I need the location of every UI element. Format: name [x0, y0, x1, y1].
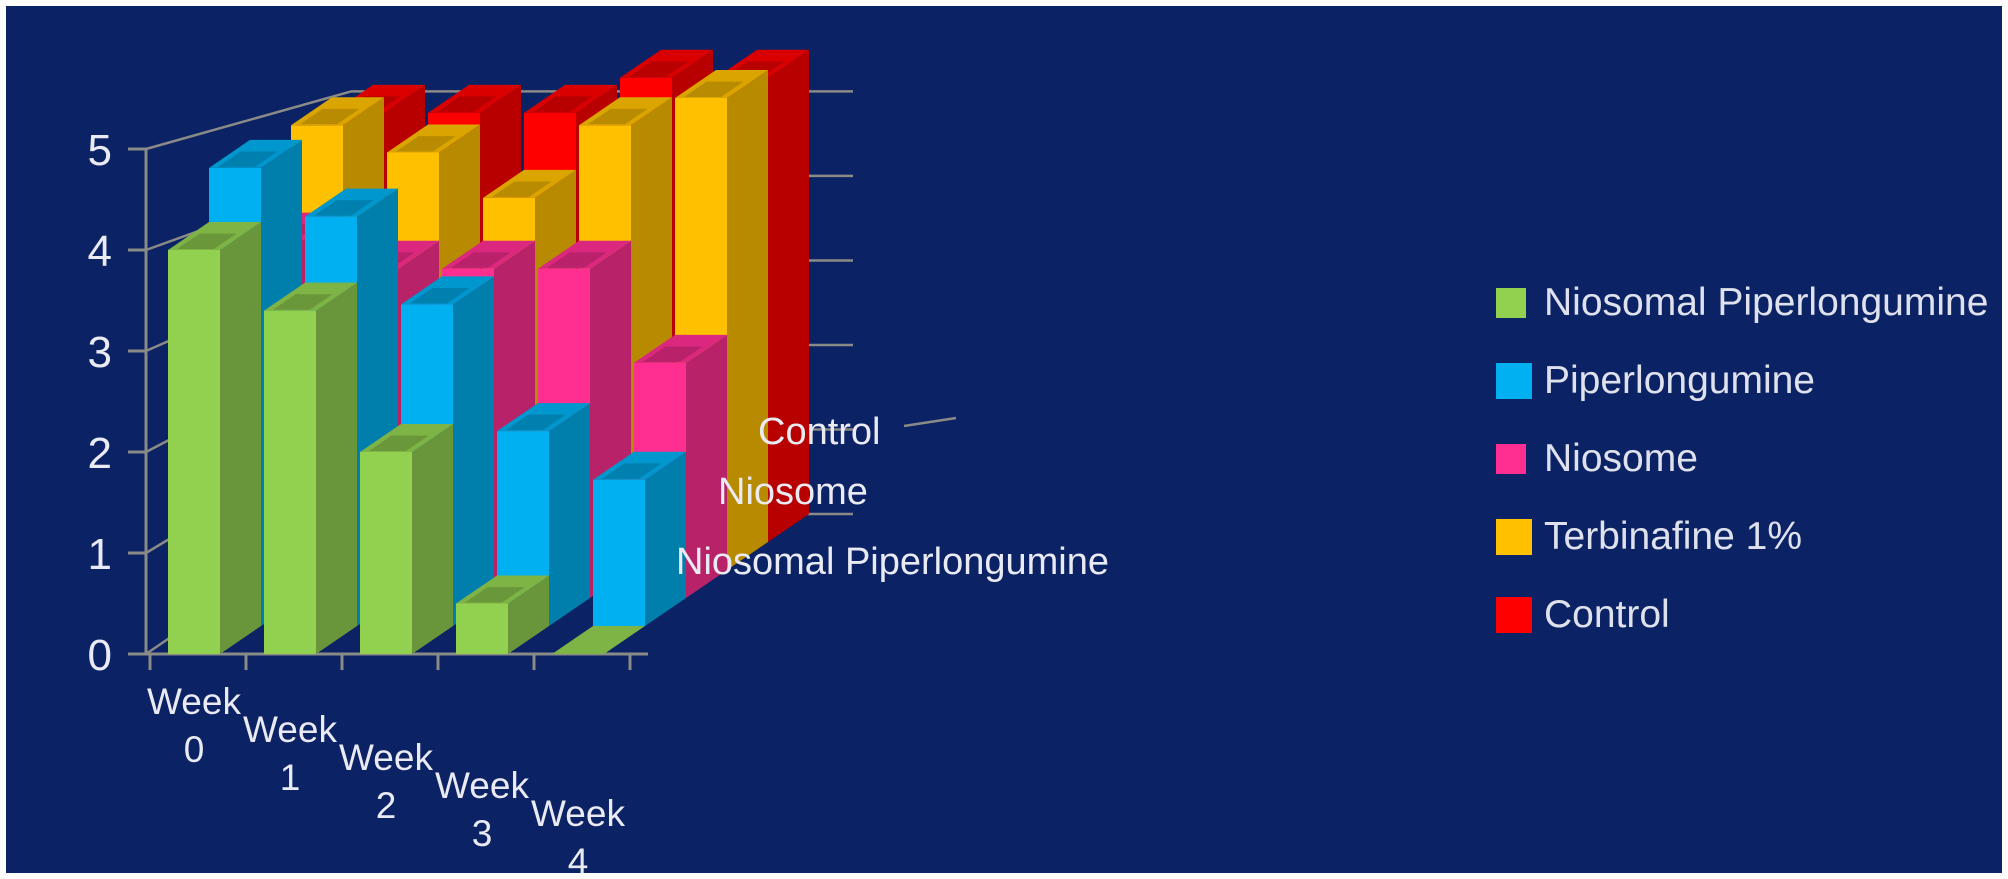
bar [593, 452, 686, 626]
legend-label: Control [1544, 593, 1670, 637]
value-tick-label: 2 [88, 429, 112, 478]
bar-side-face [453, 276, 494, 626]
bar-side-face [768, 50, 809, 542]
bar [168, 222, 261, 654]
bar-side-face [549, 403, 590, 626]
chart-figure: 012345Week0Week1Week2Week3Week4Niosomal … [0, 0, 2008, 879]
category-label: Week0 [147, 681, 241, 770]
depth-axis-label: Niosomal Piperlongumine [676, 541, 1109, 583]
legend-swatch-niosomal-piperlongumine [1496, 288, 1526, 318]
bar-front-face [593, 480, 645, 626]
legend-label: Niosomal Piperlongumine [1544, 281, 1988, 325]
legend-item[interactable]: Niosome [1496, 420, 1976, 498]
bar-side-face [645, 452, 686, 626]
category-label: Week4 [531, 793, 625, 879]
legend-swatch-niosome [1496, 444, 1526, 474]
legend-item[interactable]: Piperlongumine [1496, 342, 1976, 420]
bar-side-face [220, 222, 261, 654]
legend-swatch-control [1496, 597, 1532, 633]
bar [360, 424, 453, 654]
bar [552, 626, 645, 654]
legend-item[interactable]: Niosomal Piperlongumine [1496, 264, 1976, 342]
category-label: Week1 [243, 709, 337, 798]
value-tick-label: 0 [88, 631, 112, 680]
legend-label: Piperlongumine [1544, 359, 1815, 403]
bar-top-face [552, 626, 645, 654]
depth-axis-leader [904, 418, 956, 426]
bar-front-face [360, 452, 412, 654]
value-tick-labels: 012345 [88, 126, 112, 680]
category-labels: Week0Week1Week2Week3Week4 [147, 681, 625, 879]
legend-swatch-piperlongumine [1496, 363, 1532, 399]
category-ticks [150, 654, 630, 670]
legend-item[interactable]: Terbinafine 1% [1496, 498, 1976, 576]
bar-front-face [168, 250, 220, 654]
value-tick-label: 3 [88, 328, 112, 377]
chart-legend: Niosomal Piperlongumine Piperlongumine N… [1496, 264, 1976, 654]
bar-front-face [264, 311, 316, 654]
bar [264, 283, 357, 654]
depth-axis-label: Niosome [718, 471, 868, 513]
value-tick-label: 4 [88, 227, 112, 276]
legend-label: Terbinafine 1% [1544, 515, 1802, 559]
category-label: Week3 [435, 765, 529, 854]
legend-swatch-terbinafine [1496, 519, 1532, 555]
depth-axis-label: Control [758, 411, 881, 453]
value-tick-label: 5 [88, 126, 112, 175]
value-tick-label: 1 [88, 530, 112, 579]
legend-label: Niosome [1544, 437, 1698, 481]
bar-side-face [412, 424, 453, 654]
bar-side-face [316, 283, 357, 654]
category-label: Week2 [339, 737, 433, 826]
legend-item[interactable]: Control [1496, 576, 1976, 654]
bar-front-face [456, 604, 508, 655]
